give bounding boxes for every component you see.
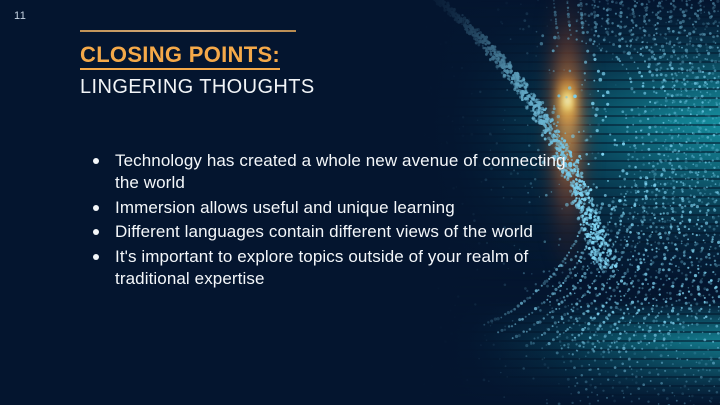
page-subtitle: LINGERING THOUGHTS	[80, 76, 500, 98]
list-item: Technology has created a whole new avenu…	[88, 150, 568, 195]
amber-bright-spark	[562, 92, 573, 110]
page-title: CLOSING POINTS:	[80, 43, 280, 70]
list-item: It's important to explore topics outside…	[88, 246, 568, 291]
slide-number: 11	[14, 10, 26, 22]
bullet-dot-icon	[93, 205, 99, 211]
list-item: Different languages contain different vi…	[88, 221, 568, 243]
list-item-label: Technology has created a whole new avenu…	[115, 151, 566, 192]
bullet-dot-icon	[93, 229, 99, 235]
slide: 11 CLOSING POINTS: LINGERING THOUGHTS Te…	[0, 0, 720, 405]
list-item-label: Different languages contain different vi…	[115, 222, 533, 241]
list-item: Immersion allows useful and unique learn…	[88, 197, 568, 219]
header-top-rule	[80, 30, 296, 32]
bullet-dot-icon	[93, 254, 99, 260]
bullet-list: Technology has created a whole new avenu…	[88, 150, 568, 293]
list-item-label: It's important to explore topics outside…	[115, 247, 528, 288]
amber-glow-core	[556, 78, 578, 124]
list-item-label: Immersion allows useful and unique learn…	[115, 198, 455, 217]
slide-header: CLOSING POINTS: LINGERING THOUGHTS	[80, 30, 500, 98]
bullet-dot-icon	[93, 158, 99, 164]
